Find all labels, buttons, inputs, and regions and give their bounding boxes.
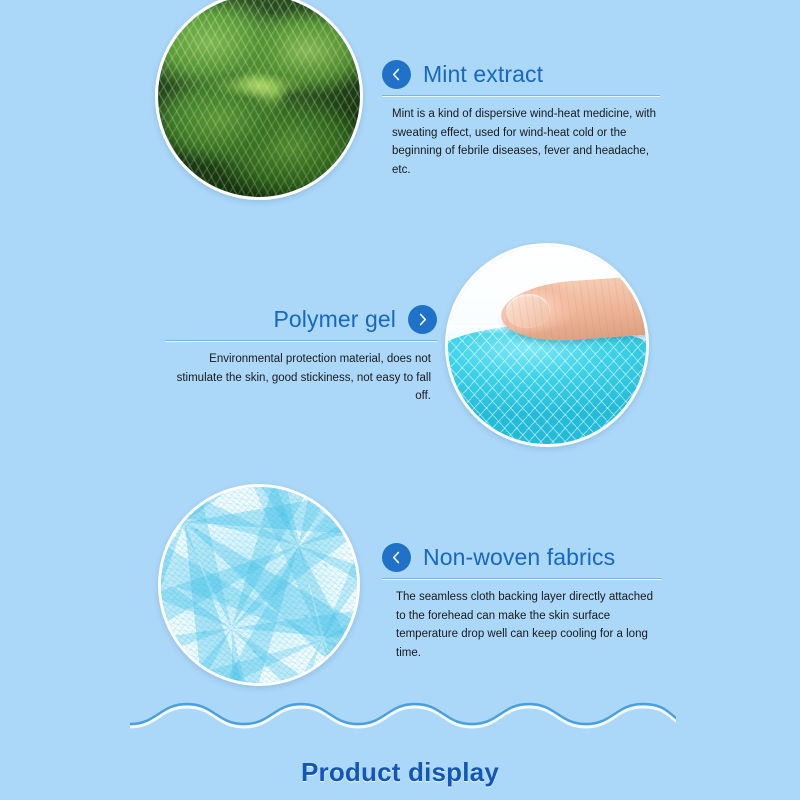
mint-extract-image [155,0,363,200]
feature-gel-header: Polymer gel [165,305,437,334]
finger-pressing-gel-photo [448,246,646,444]
feature-fabric-title: Non-woven fabrics [423,544,615,571]
chevron-right-icon[interactable] [408,305,437,334]
finger [500,274,649,345]
mint-leaves-photo [158,0,360,197]
feature-mint-divider [382,95,660,96]
feature-fabric-divider [382,578,662,579]
feature-fabric-header: Non-woven fabrics [382,543,662,572]
feature-gel-description: Environmental protection material, does … [165,350,437,406]
feature-mint-title: Mint extract [423,61,543,88]
gel-surface [445,325,649,447]
feature-mint-description: Mint is a kind of dispersive wind-heat m… [382,105,660,180]
chevron-left-icon[interactable] [382,60,411,89]
feature-gel-title: Polymer gel [273,306,396,333]
chevron-left-icon[interactable] [382,543,411,572]
wave-divider [130,698,676,744]
feature-fabric-description: The seamless cloth backing layer directl… [382,588,662,663]
non-woven-fabric-photo [161,487,357,683]
polymer-gel-image [445,243,649,447]
feature-gel-divider [165,340,437,341]
infographic-page: Mint extract Mint is a kind of dispersiv… [0,0,800,800]
feature-non-woven-fabrics: Non-woven fabrics The seamless cloth bac… [382,543,662,663]
non-woven-fabrics-image [158,484,360,686]
product-display-heading: Product display [0,757,800,788]
feature-mint-extract: Mint extract Mint is a kind of dispersiv… [382,60,660,180]
feature-mint-header: Mint extract [382,60,660,89]
feature-polymer-gel: Polymer gel Environmental protection mat… [165,305,437,406]
